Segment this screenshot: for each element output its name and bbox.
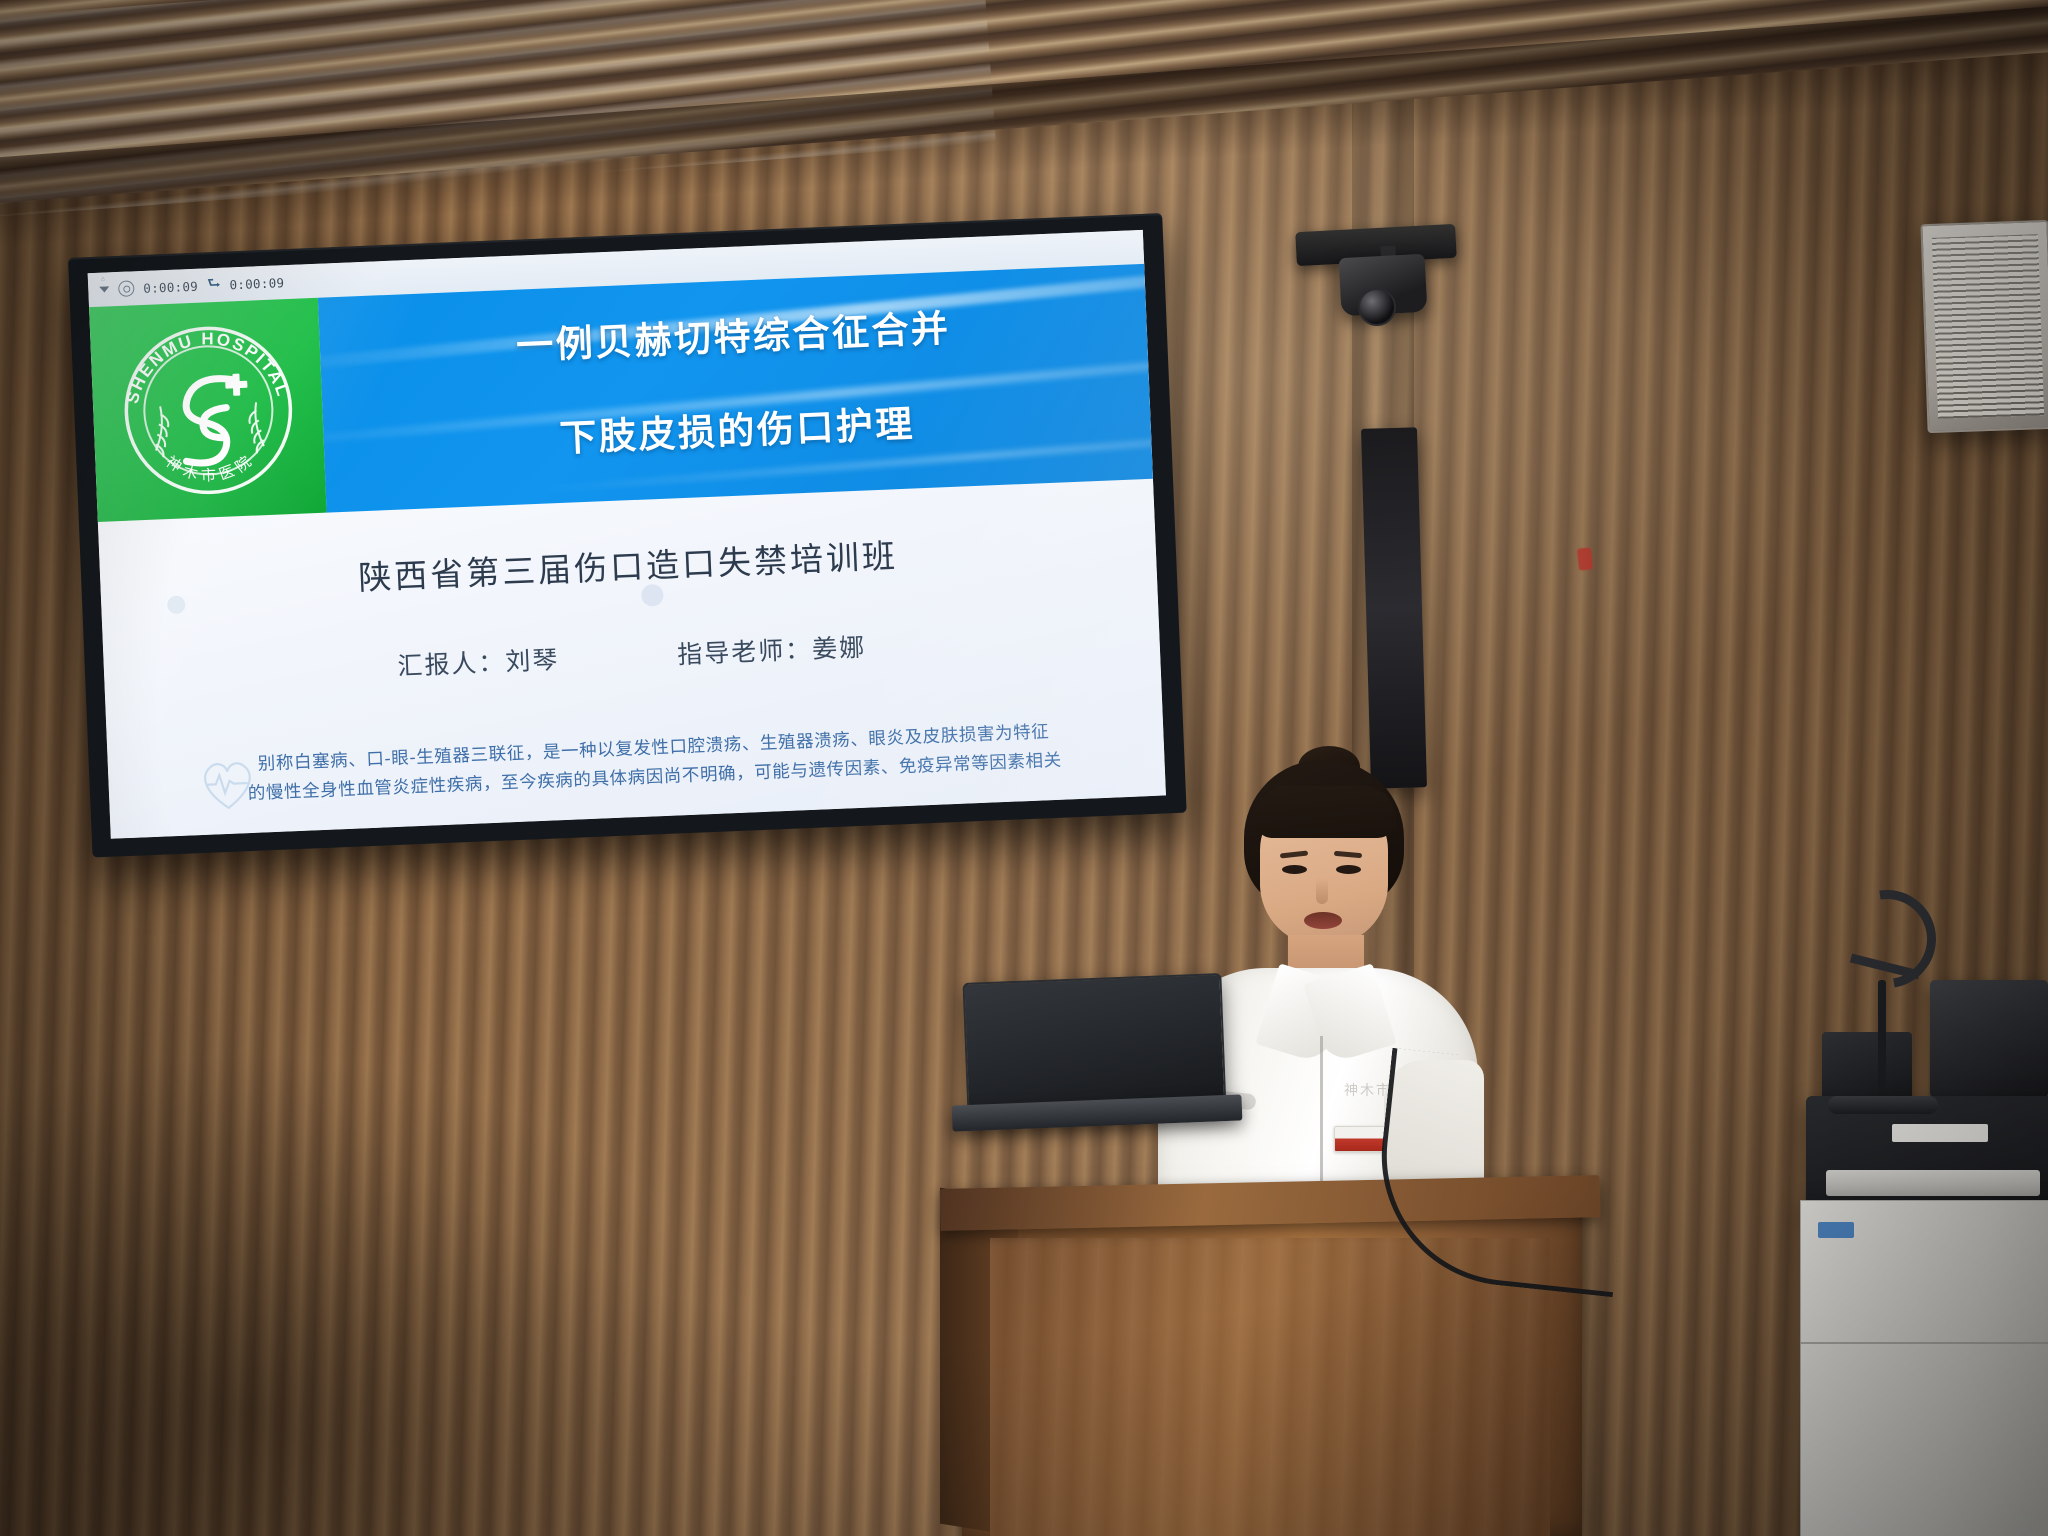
printer-label xyxy=(1892,1124,1988,1142)
disease-description: 别称白塞病、口-眼-生殖器三联征，是一种以复发性口腔溃疡、生殖器溃疡、眼炎及皮肤… xyxy=(203,716,1105,812)
slide-canvas: SHENMU HOSPITAL 神木市医院 xyxy=(89,264,1166,839)
red-wall-marker xyxy=(1577,547,1593,570)
screen-surface: ▵ 0:00:09 ⮐ 0:00:09 xyxy=(88,230,1166,839)
course-name: 陕西省第三届伤口造口失禁培训班 xyxy=(99,519,1156,610)
mouth xyxy=(1304,912,1342,929)
projection-screen: ▵ 0:00:09 ⮐ 0:00:09 xyxy=(68,213,1187,857)
lecture-room-photo: ▵ 0:00:09 ⮐ 0:00:09 xyxy=(0,0,2048,1536)
toolbar-corner-glyph: ▵ xyxy=(101,274,105,283)
eye-left xyxy=(1282,865,1307,874)
shenmu-hospital-logo-icon: SHENMU HOSPITAL 神木市医院 xyxy=(110,312,306,508)
wall-speaker xyxy=(1920,220,2048,433)
equipment-box xyxy=(1930,980,2048,1098)
hair-fringe xyxy=(1254,786,1396,838)
hospital-logo-panel: SHENMU HOSPITAL 神木市医院 xyxy=(89,298,327,522)
microphone-stand xyxy=(1878,980,1886,1105)
slide-time-value: 0:00:09 xyxy=(143,278,198,295)
slide-title-line-1: 一例贝赫切特综合征合并 xyxy=(319,290,1148,378)
eye-right xyxy=(1336,865,1361,874)
podium-front-panel xyxy=(990,1238,1550,1536)
rehearse-timer-icon[interactable] xyxy=(118,280,135,297)
speaker-grille-icon xyxy=(1932,234,2044,419)
printer-paper-tray xyxy=(1826,1170,2040,1196)
cabinet-blue-tab xyxy=(1818,1222,1854,1238)
nose xyxy=(1316,878,1328,904)
byline-row: 汇报人：刘琴 指导老师：姜娜 xyxy=(103,616,1160,695)
cabinet-seam xyxy=(1800,1342,2048,1344)
microphone-stand-base xyxy=(1828,1096,1938,1114)
repeat-icon[interactable]: ⮐ xyxy=(207,272,222,298)
equipment-box-secondary xyxy=(1822,1032,1912,1102)
presenter-label: 汇报人：刘琴 xyxy=(397,640,560,683)
slide-title-banner: 一例贝赫切特综合征合并 下肢皮损的伤口护理 xyxy=(318,264,1153,513)
dark-wall-panel xyxy=(1361,427,1427,788)
white-cabinet xyxy=(1800,1200,2048,1536)
advisor-label: 指导老师：姜娜 xyxy=(676,628,866,672)
total-time-value: 0:00:09 xyxy=(229,275,284,292)
caret-down-icon[interactable] xyxy=(99,286,109,292)
svg-text:神木市医院: 神木市医院 xyxy=(162,449,259,486)
